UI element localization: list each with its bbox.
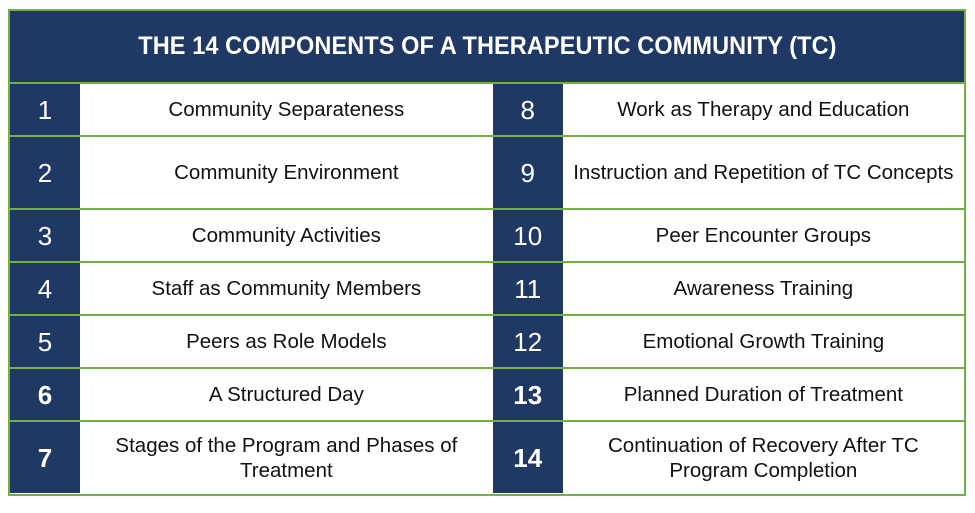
row-number-8: 8 (493, 84, 563, 135)
row-label-text: Staff as Community Members (152, 276, 422, 301)
table-row: 10 Peer Encounter Groups (493, 210, 964, 263)
table-row: 11 Awareness Training (493, 263, 964, 316)
row-label-text: Peer Encounter Groups (656, 223, 871, 248)
table-row: 4 Staff as Community Members (10, 263, 493, 316)
row-label-3: Community Activities (80, 210, 493, 261)
row-label-text: Community Separateness (168, 97, 404, 122)
row-number-6: 6 (10, 369, 80, 420)
row-number-4: 4 (10, 263, 80, 314)
row-label-7: Stages of the Program and Phases of Trea… (80, 422, 493, 493)
row-label-10: Peer Encounter Groups (563, 210, 964, 261)
row-number-14: 14 (493, 422, 563, 493)
row-label-text: Emotional Growth Training (643, 329, 885, 354)
row-label-8: Work as Therapy and Education (563, 84, 964, 135)
row-number-7: 7 (10, 422, 80, 493)
table-row: 2 Community Environment (10, 137, 493, 210)
row-label-4: Staff as Community Members (80, 263, 493, 314)
table-row: 12 Emotional Growth Training (493, 316, 964, 369)
row-number-13: 13 (493, 369, 563, 420)
row-number-3: 3 (10, 210, 80, 261)
row-label-text: Stages of the Program and Phases of Trea… (86, 433, 487, 483)
table-row: 9 Instruction and Repetition of TC Conce… (493, 137, 964, 210)
table-row: 6 A Structured Day (10, 369, 493, 422)
row-number-2: 2 (10, 137, 80, 208)
row-label-text: Planned Duration of Treatment (624, 382, 903, 407)
row-label-text: Instruction and Repetition of TC Concept… (573, 160, 953, 185)
components-column-right: 8 Work as Therapy and Education 9 Instru… (493, 84, 964, 496)
row-label-6: A Structured Day (80, 369, 493, 420)
row-label-text: Continuation of Recovery After TC Progra… (569, 433, 958, 483)
components-table: THE 14 COMPONENTS OF A THERAPEUTIC COMMU… (8, 9, 966, 496)
row-label-text: Awareness Training (674, 276, 854, 301)
table-title-bar: THE 14 COMPONENTS OF A THERAPEUTIC COMMU… (10, 11, 964, 84)
page-title: THE 14 COMPONENTS OF A THERAPEUTIC COMMU… (138, 32, 836, 61)
table-row: 7 Stages of the Program and Phases of Tr… (10, 422, 493, 493)
table-row: 1 Community Separateness (10, 84, 493, 137)
row-number-12: 12 (493, 316, 563, 367)
components-column-left: 1 Community Separateness 2 Community Env… (10, 84, 493, 496)
row-number-9: 9 (493, 137, 563, 208)
table-row: 14 Continuation of Recovery After TC Pro… (493, 422, 964, 493)
row-number-5: 5 (10, 316, 80, 367)
row-label-text: A Structured Day (209, 382, 364, 407)
table-row: 8 Work as Therapy and Education (493, 84, 964, 137)
row-label-text: Community Activities (192, 223, 381, 248)
row-label-14: Continuation of Recovery After TC Progra… (563, 422, 964, 493)
row-label-13: Planned Duration of Treatment (563, 369, 964, 420)
row-number-11: 11 (493, 263, 563, 314)
row-label-11: Awareness Training (563, 263, 964, 314)
row-label-text: Work as Therapy and Education (617, 97, 909, 122)
row-label-text: Community Environment (174, 160, 398, 185)
row-number-1: 1 (10, 84, 80, 135)
table-row: 13 Planned Duration of Treatment (493, 369, 964, 422)
row-label-2: Community Environment (80, 137, 493, 208)
infographic-page: THE 14 COMPONENTS OF A THERAPEUTIC COMMU… (0, 0, 975, 513)
components-grid: 1 Community Separateness 2 Community Env… (10, 84, 964, 496)
row-label-12: Emotional Growth Training (563, 316, 964, 367)
row-number-10: 10 (493, 210, 563, 261)
table-row: 5 Peers as Role Models (10, 316, 493, 369)
row-label-text: Peers as Role Models (186, 329, 387, 354)
row-label-5: Peers as Role Models (80, 316, 493, 367)
row-label-9: Instruction and Repetition of TC Concept… (563, 137, 964, 208)
row-label-1: Community Separateness (80, 84, 493, 135)
table-row: 3 Community Activities (10, 210, 493, 263)
